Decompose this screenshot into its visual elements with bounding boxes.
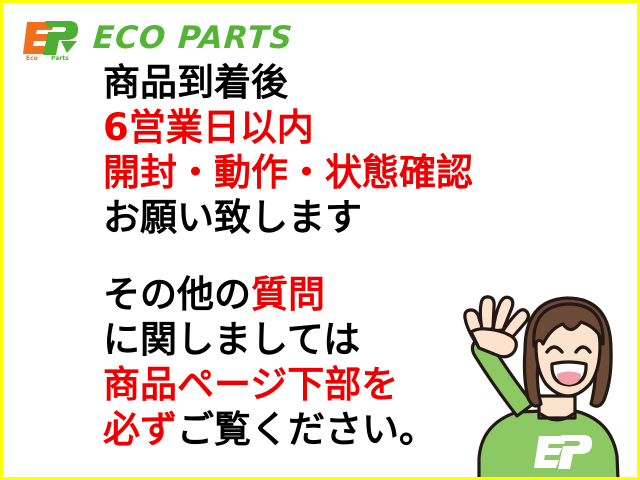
- notice-line-2: 6営業日以内: [103, 105, 573, 150]
- notice-line-3: 開封・動作・状態確認: [103, 150, 573, 195]
- notice-line-5-part-1: その他の: [103, 273, 251, 316]
- brand-wordmark: ECO PARTS: [92, 23, 294, 54]
- brand-header: Eco Parts ECO PARTS: [21, 15, 293, 61]
- svg-text:Parts: Parts: [51, 55, 69, 61]
- notice-line-6-part-1: に関しましては: [103, 318, 360, 361]
- notice-line-7-part-1: 商品ページ下部を: [103, 363, 398, 406]
- paragraph-gap: [103, 240, 573, 272]
- svg-text:Eco: Eco: [26, 55, 38, 61]
- notice-line-4: お願い致します: [103, 195, 573, 240]
- eco-parts-logo-icon: Eco Parts: [21, 15, 83, 61]
- mascot-character-illustration: [421, 284, 640, 479]
- notice-line-5-part-2: 質問: [251, 273, 325, 316]
- notice-line-8-part-2: ご覧ください。: [177, 408, 436, 451]
- notice-line-8-part-1: 必ず: [103, 408, 177, 451]
- notice-line-1: 商品到着後: [103, 60, 573, 105]
- promo-banner: Eco Parts ECO PARTS 商品到着後 6営業日以内 開封・動作・状…: [0, 0, 640, 480]
